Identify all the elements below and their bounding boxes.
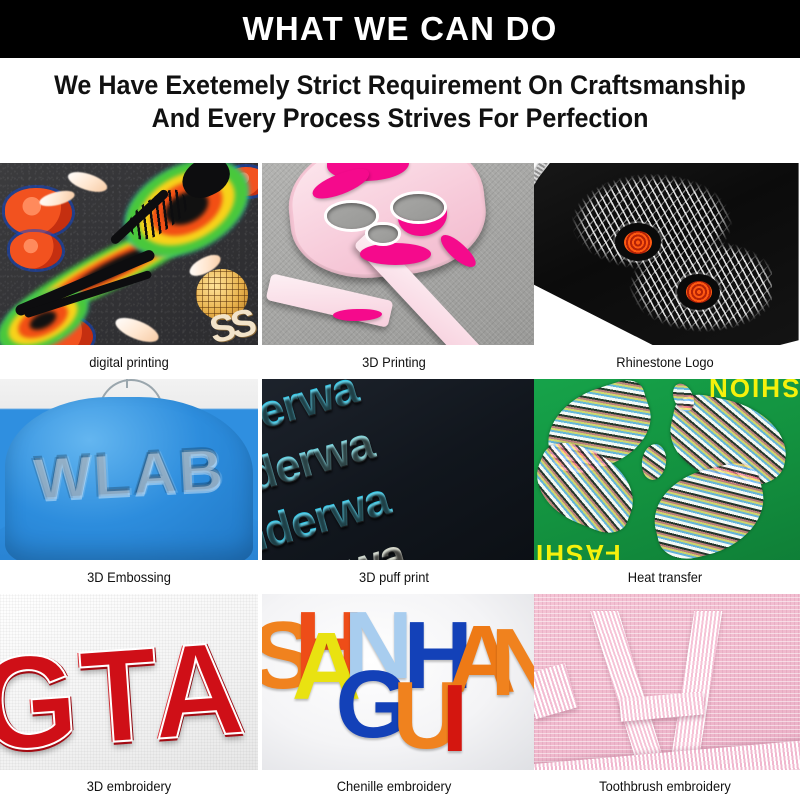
caption-3d-printing: 3D Printing: [269, 345, 519, 379]
caption-digital-printing: digital printing: [10, 345, 247, 379]
grid-row: SS digital printing: [0, 160, 800, 379]
thumbnail-heat-transfer[interactable]: FASHION FASHION: [534, 379, 800, 560]
caption-3d-embroidery: 3D embroidery: [10, 770, 247, 802]
letter-a-graphic: [604, 601, 766, 763]
photo-3d-puff-print: anderwa anderwa anderwa anderwa anderwa: [262, 379, 534, 560]
caption-toothbrush-embroidery: Toothbrush embroidery: [541, 770, 789, 802]
photo-3d-embroidery: GTA: [0, 594, 258, 770]
caption-chenille-embroidery: Chenille embroidery: [269, 770, 519, 802]
grid-row: GTA 3D embroidery S H A N G H U A: [0, 594, 800, 802]
photo-3d-embossing: WLAB: [0, 379, 258, 560]
photo-toothbrush-embroidery: [534, 594, 800, 770]
photo-heat-transfer: FASHION FASHION: [534, 379, 800, 560]
grid-item-3d-embroidery[interactable]: GTA 3D embroidery: [0, 594, 258, 802]
grid-item-chenille-embroidery[interactable]: S H A N G H U A I N Chenille embroidery: [258, 594, 530, 802]
thumbnail-digital-printing[interactable]: SS: [0, 163, 258, 345]
subtitle-block: We Have Exetemely Strict Requirement On …: [0, 58, 800, 135]
subtitle-line-1: We Have Exetemely Strict Requirement On …: [28, 69, 772, 102]
grid-item-heat-transfer[interactable]: FASHION FASHION Heat transfer: [530, 379, 800, 594]
thumbnail-rhinestone-logo[interactable]: [534, 163, 800, 345]
page-title: WHAT WE CAN DO: [243, 10, 558, 48]
corner-text-top: FASHION: [707, 379, 800, 403]
thumbnail-3d-printing[interactable]: [262, 163, 534, 345]
caption-heat-transfer: Heat transfer: [541, 560, 789, 594]
photo-chenille-embroidery: S H A N G H U A I N: [262, 594, 534, 770]
caption-rhinestone-logo: Rhinestone Logo: [541, 345, 789, 379]
process-grid: SS digital printing: [0, 160, 800, 802]
title-band: WHAT WE CAN DO: [0, 0, 800, 58]
grid-item-3d-printing[interactable]: 3D Printing: [258, 160, 530, 379]
thumbnail-chenille-embroidery[interactable]: S H A N G H U A I N: [262, 594, 534, 770]
photo-digital-printing: SS: [0, 163, 258, 345]
caption-3d-embossing: 3D Embossing: [10, 560, 247, 594]
grid-item-3d-embossing[interactable]: WLAB 3D Embossing: [0, 379, 258, 594]
subtitle-line-2: And Every Process Strives For Perfection: [28, 102, 772, 135]
caption-3d-puff-print: 3D puff print: [269, 560, 519, 594]
thumbnail-3d-puff-print[interactable]: anderwa anderwa anderwa anderwa anderwa: [262, 379, 534, 560]
embroidered-letters: GTA: [0, 608, 258, 770]
grid-item-3d-puff-print[interactable]: anderwa anderwa anderwa anderwa anderwa …: [258, 379, 530, 594]
grid-item-digital-printing[interactable]: SS digital printing: [0, 160, 258, 379]
grid-row: WLAB 3D Embossing anderwa anderwa anderw…: [0, 379, 800, 594]
photo-rhinestone-logo: [534, 163, 800, 345]
corner-text-bottom: FASHION: [534, 538, 620, 560]
poster-page: WHAT WE CAN DO We Have Exetemely Strict …: [0, 0, 800, 800]
thumbnail-toothbrush-embroidery[interactable]: [534, 594, 800, 770]
ss-lettering: SS: [206, 302, 257, 345]
thumbnail-3d-embossing[interactable]: WLAB: [0, 379, 258, 560]
grid-item-rhinestone-logo[interactable]: Rhinestone Logo: [530, 160, 800, 379]
embossed-text: WLAB: [0, 431, 258, 515]
thumbnail-3d-embroidery[interactable]: GTA: [0, 594, 258, 770]
puff-text-rows: anderwa anderwa anderwa anderwa anderwa: [262, 379, 534, 560]
grid-item-toothbrush-embroidery[interactable]: Toothbrush embroidery: [530, 594, 800, 802]
photo-3d-printing: [262, 163, 534, 345]
